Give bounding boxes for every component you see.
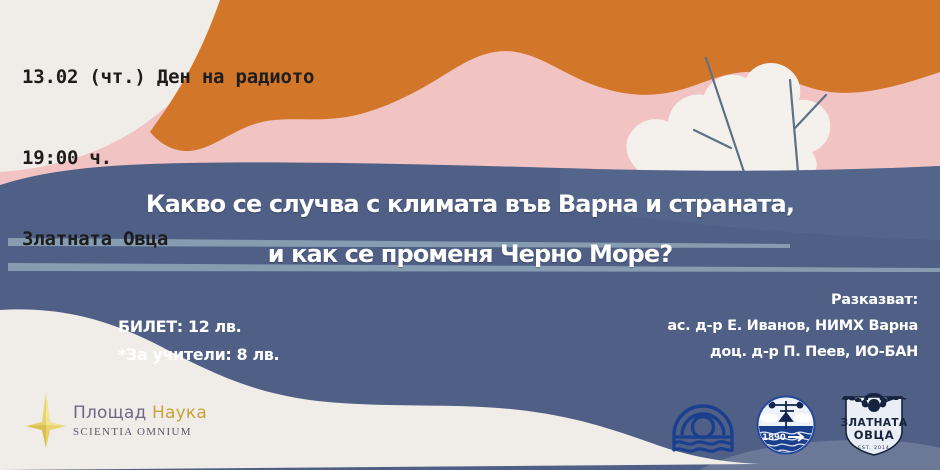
nimh-year-label: 1890 — [762, 433, 786, 443]
header-info: 13.02 (чт.) Ден на радиото 19:00 ч. Злат… — [22, 10, 314, 307]
organizer-logo: Площад Наука SCIENTIA OMNIUM — [26, 392, 207, 448]
speaker-1: ас. д-р Е. Иванов, НИМХ Варна — [667, 314, 918, 340]
speakers-info: Разказват: ас. д-р Е. Иванов, НИМХ Варна… — [667, 288, 918, 365]
event-date: 13.02 (чт.) Ден на радиото — [22, 64, 314, 91]
partner-logo-zlatnata-ovca: ЗЛАТНАТА ОВЦА EST. 2014 — [836, 391, 912, 462]
ticket-price: БИЛЕТ: 12 лв. — [118, 313, 279, 341]
nimh-emblem-icon: 1890 — [754, 393, 818, 457]
partner-logo-ioban — [670, 395, 736, 462]
organizer-name: Площад Наука — [73, 405, 207, 422]
pricing-info: БИЛЕТ: 12 лв. *За учители: 8 лв. — [118, 313, 279, 368]
teacher-price: *За учители: 8 лв. — [118, 341, 279, 369]
partner-logo-nimh: 1890 — [754, 393, 818, 462]
speaker-2: доц. д-р П. Пеев, ИО-БАН — [667, 340, 918, 366]
zlatnata-ovca-line2: ОВЦА — [854, 428, 895, 442]
partner-logo-row: 1890 — [670, 391, 912, 462]
organizer-name-part2: Наука — [152, 403, 207, 423]
event-time: 19:00 ч. — [22, 145, 314, 172]
organizer-name-part1: Площад — [73, 403, 146, 423]
ioban-emblem-icon — [670, 395, 736, 457]
speakers-heading: Разказват: — [667, 288, 918, 314]
star-icon — [26, 392, 66, 448]
organizer-tagline: SCIENTIA OMNIUM — [73, 427, 207, 438]
event-poster: 13.02 (чт.) Ден на радиото 19:00 ч. Злат… — [0, 0, 940, 470]
zlatnata-ovca-footer: EST. 2014 — [858, 445, 890, 451]
event-venue: Златната Овца — [22, 226, 314, 253]
zlatnata-ovca-emblem-icon: ЗЛАТНАТА ОВЦА EST. 2014 — [836, 391, 912, 457]
organizer-name-block: Площад Наука SCIENTIA OMNIUM — [73, 402, 207, 438]
